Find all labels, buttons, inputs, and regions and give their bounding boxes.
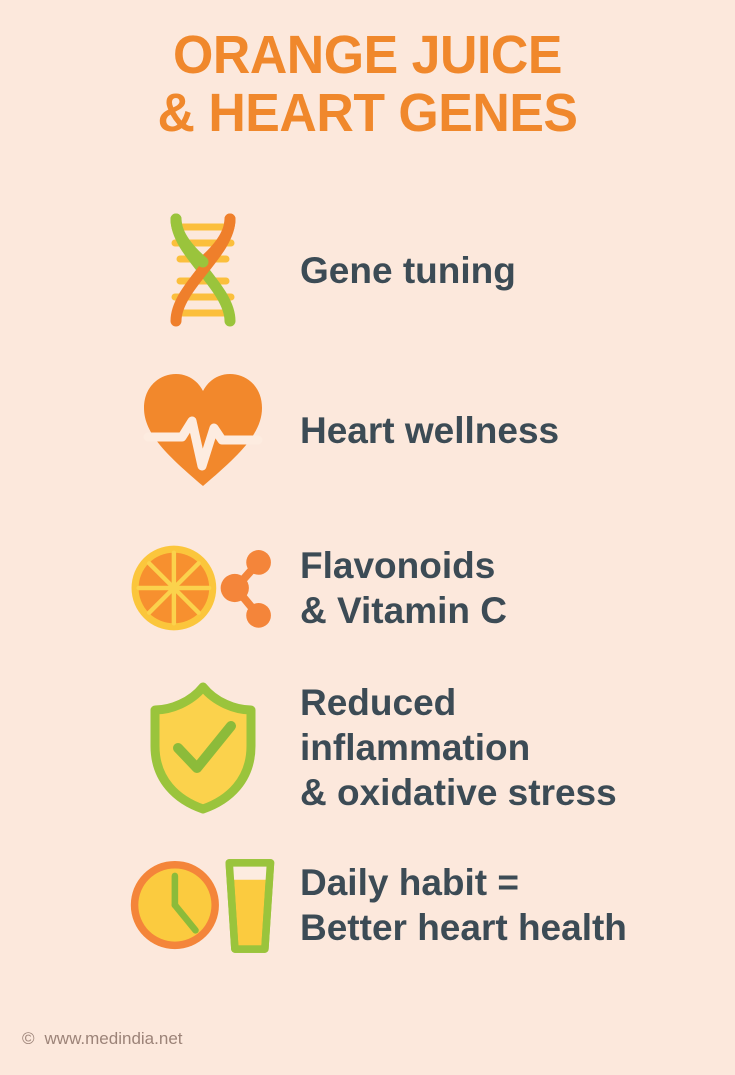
title-line-1: ORANGE JUICE [15, 26, 721, 84]
heart-pulse-icon [128, 368, 278, 493]
clock-juice-glass-icon [128, 850, 278, 960]
list-item-label: Daily habit = Better heart health [278, 860, 627, 950]
footer-site-label: www.medindia.net [45, 1029, 183, 1049]
list-item-label: Reduced inflammation & oxidative stress [278, 680, 617, 815]
list-item: Flavonoids & Vitamin C [0, 510, 735, 665]
list-item-label: Heart wellness [278, 408, 559, 453]
benefits-list: Gene tuning Heart wellness [0, 190, 735, 980]
page-title: ORANGE JUICE & HEART GENES [0, 26, 735, 142]
list-item: Daily habit = Better heart health [0, 830, 735, 980]
list-item: Reduced inflammation & oxidative stress [0, 665, 735, 830]
dna-helix-icon [128, 205, 278, 335]
list-item: Gene tuning [0, 190, 735, 350]
copyright-icon: © [22, 1029, 35, 1049]
infographic-canvas: ORANGE JUICE & HEART GENES [0, 0, 735, 1075]
list-item: Heart wellness [0, 350, 735, 510]
title-line-2: & HEART GENES [15, 84, 721, 142]
list-item-label: Flavonoids & Vitamin C [278, 543, 507, 633]
list-item-label: Gene tuning [278, 248, 516, 293]
orange-slice-molecule-icon [128, 533, 278, 643]
footer-attribution: © www.medindia.net [22, 1029, 183, 1049]
shield-check-icon [128, 680, 278, 815]
